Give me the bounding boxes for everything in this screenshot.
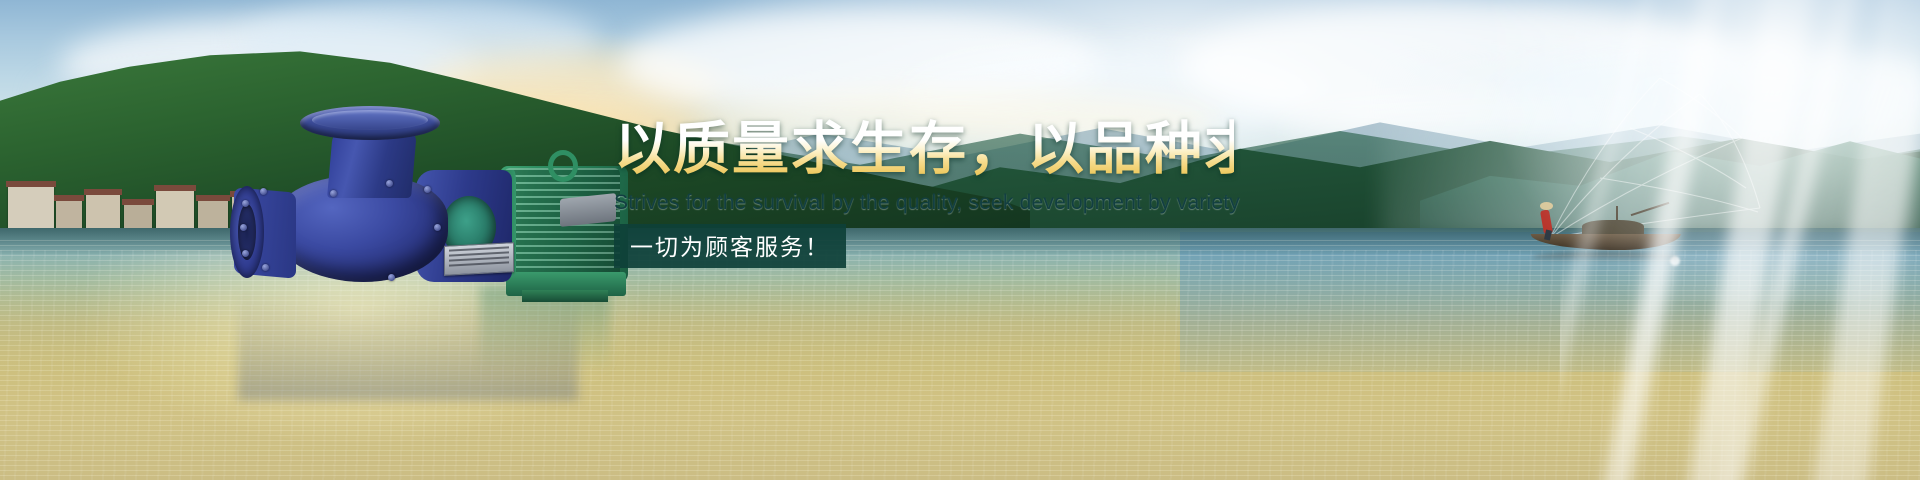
centrifugal-pump-product bbox=[238, 104, 578, 294]
casing-bolt bbox=[434, 224, 441, 231]
motor-base-foot bbox=[522, 290, 608, 302]
pump-discharge-flange-rim bbox=[312, 110, 428, 130]
service-slogan-badge: 一切为顾客服务！ bbox=[614, 224, 846, 268]
motor-terminal-box bbox=[560, 193, 616, 227]
promo-banner: 以质量求生存，以品种求发展 Strives for the survival b… bbox=[0, 0, 1920, 480]
motor-lifting-eye bbox=[548, 150, 578, 182]
village-building bbox=[86, 194, 120, 230]
casing-bolt bbox=[330, 190, 337, 197]
village-building bbox=[124, 204, 152, 230]
village-building bbox=[198, 200, 228, 230]
casing-bolt bbox=[424, 186, 431, 193]
village-building bbox=[156, 190, 194, 230]
banner-text-block: 以质量求生存，以品种求发展 Strives for the survival b… bbox=[614, 118, 1234, 268]
pump-discharge-neck bbox=[327, 130, 417, 198]
flange-bolt bbox=[242, 250, 249, 257]
banner-subtitle: Strives for the survival by the quality,… bbox=[614, 191, 1234, 215]
flange-bolt bbox=[260, 188, 267, 195]
flange-bolt bbox=[242, 200, 249, 207]
casing-bolt bbox=[386, 180, 393, 187]
flange-bolt bbox=[240, 224, 247, 231]
flange-bolt bbox=[262, 264, 269, 271]
village-building bbox=[56, 200, 82, 230]
corner-glow bbox=[1460, 0, 1920, 300]
village-building bbox=[8, 186, 54, 230]
pump-nameplate bbox=[444, 242, 514, 276]
banner-headline: 以质量求生存，以品种求发展 bbox=[614, 118, 1234, 182]
casing-bolt bbox=[388, 274, 395, 281]
